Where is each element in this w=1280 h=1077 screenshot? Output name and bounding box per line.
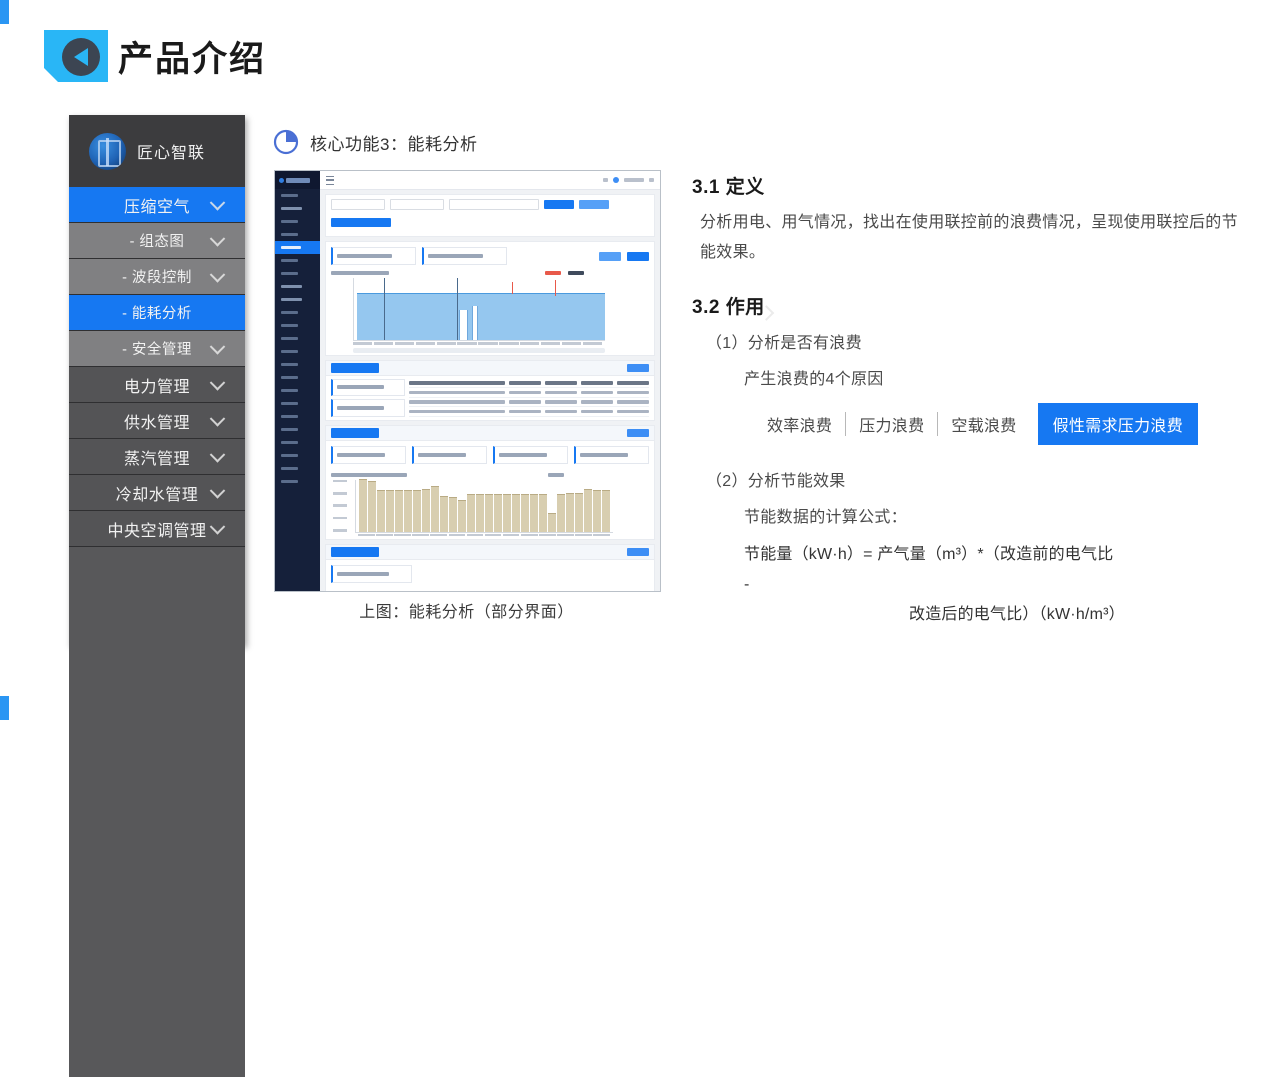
panel-header: [326, 361, 654, 376]
sidebar-item-label: 电力管理: [124, 373, 190, 397]
kpi-card: [422, 247, 507, 265]
chevron-down-icon[interactable]: [210, 447, 226, 463]
mock-nav-item[interactable]: [275, 332, 320, 345]
bar: [476, 494, 484, 531]
mock-nav-item[interactable]: [275, 462, 320, 475]
mock-nav-item[interactable]: [275, 436, 320, 449]
sidebar-menu: 压缩空气- 组态图- 波段控制- 能耗分析- 安全管理电力管理供水管理蒸汽管理冷…: [69, 187, 245, 547]
mock-app-nav: [275, 171, 320, 591]
tab-energy-analysis[interactable]: [331, 218, 391, 227]
chevron-down-icon[interactable]: [210, 375, 226, 391]
bar: [494, 494, 502, 531]
tab-bar: [326, 214, 654, 236]
bar: [413, 490, 421, 532]
sidebar-item-label: 供水管理: [124, 409, 190, 433]
bar: [458, 500, 466, 531]
mock-nav-item[interactable]: [275, 423, 320, 436]
item-1-sub: 产生浪费的4个原因: [744, 365, 1252, 389]
bar-series-beige: [355, 480, 613, 533]
kpi-row: [326, 441, 654, 469]
chevron-down-icon[interactable]: [210, 483, 226, 499]
section-3-2-title: 3.2 作用: [692, 292, 1252, 319]
chevron-down-icon[interactable]: [210, 231, 226, 247]
screenshot-caption: 上图：能耗分析（部分界面）: [274, 598, 659, 622]
summary-cards: [331, 379, 405, 417]
summary-card: [331, 399, 405, 417]
panel-content: [326, 376, 654, 420]
waste-detail-panel: [325, 360, 655, 421]
chevron-down-icon[interactable]: [210, 267, 226, 283]
spike-marker: [512, 282, 513, 294]
kpi-card: [574, 446, 649, 464]
menu-toggle-icon[interactable]: [326, 176, 334, 185]
filter-row: [326, 195, 654, 214]
bar: [422, 489, 430, 532]
formula-line-3: 改造后的电气比）（kW·h/m³）: [909, 600, 1252, 630]
panel-header: [326, 426, 654, 441]
area-plot: [353, 278, 605, 341]
kpi-row: [326, 560, 654, 588]
bar: [512, 494, 520, 531]
sidebar-item-label: 蒸汽管理: [124, 445, 190, 469]
gas-output-bar-chart: [326, 588, 654, 592]
slide-header: 产品介绍: [0, 0, 1280, 110]
sidebar-item-1[interactable]: - 组态图: [69, 223, 245, 259]
kpi-card: [331, 446, 406, 464]
mock-nav-brand: [275, 171, 320, 189]
chevron-down-icon[interactable]: [210, 195, 226, 211]
panel-header: [326, 545, 654, 560]
sidebar-item-label: - 组态图: [130, 230, 185, 251]
reset-button[interactable]: [579, 200, 609, 209]
mock-nav-item[interactable]: [275, 306, 320, 319]
avatar[interactable]: [613, 177, 619, 183]
gas-output-panel: [325, 544, 655, 592]
waste-chip-0[interactable]: 效率浪费: [754, 412, 846, 436]
query-button[interactable]: [544, 200, 574, 209]
mock-nav-item[interactable]: [275, 384, 320, 397]
bar: [557, 494, 565, 531]
table-header-row: [409, 379, 649, 389]
area-gap: [472, 306, 478, 340]
mock-nav-item[interactable]: [275, 228, 320, 241]
mock-nav-item[interactable]: [275, 280, 320, 293]
feature-heading-row: 核心功能3：能耗分析: [272, 120, 664, 164]
bar: [584, 489, 592, 532]
bar: [602, 490, 610, 532]
spike-marker: [555, 280, 556, 296]
kpi-card: [412, 446, 487, 464]
table-row[interactable]: [409, 388, 649, 398]
bar: [593, 490, 601, 532]
bar: [395, 490, 403, 532]
unit-energy-panel: [325, 425, 655, 541]
kpi-card: [331, 247, 416, 265]
bar: [566, 493, 574, 531]
logout-icon[interactable]: [649, 178, 654, 182]
mock-nav-item[interactable]: [275, 358, 320, 371]
panel-title-tag: [331, 363, 379, 373]
panel-title-tag: [331, 428, 379, 438]
mock-nav-item[interactable]: [275, 267, 320, 280]
mock-nav-item[interactable]: [275, 215, 320, 228]
waste-reason-chips: 效率浪费压力浪费空载浪费假性需求压力浪费: [754, 403, 1252, 445]
sidebar-item-0[interactable]: 压缩空气: [69, 187, 245, 223]
sidebar-item-4[interactable]: - 安全管理: [69, 331, 245, 367]
trend-panel: [325, 241, 655, 356]
chart-title: [331, 271, 389, 275]
mock-topbar-right: [603, 177, 654, 183]
right-content: 3.1 定义 分析用电、用气情况，找出在使用联控前的浪费情况，呈现使用联控后的节…: [692, 172, 1252, 630]
marker-line: [384, 278, 385, 340]
chart-scrollbar[interactable]: [353, 348, 605, 353]
legend-item[interactable]: [545, 271, 561, 275]
feature-heading-label: 核心功能3：能耗分析: [310, 130, 477, 155]
mock-nav-item[interactable]: [275, 371, 320, 384]
select-area[interactable]: [331, 199, 385, 210]
legend-item[interactable]: [568, 271, 584, 275]
section-3-1-body: 分析用电、用气情况，找出在使用联控前的浪费情况，呈现使用联控后的节能效果。: [700, 208, 1252, 268]
bar: [431, 486, 439, 532]
bar: [386, 490, 394, 532]
center-column: 核心功能3：能耗分析: [272, 120, 664, 164]
sidebar-item-5[interactable]: 电力管理: [69, 367, 245, 403]
mock-nav-item[interactable]: [275, 293, 320, 306]
chart-legend: [548, 473, 564, 477]
play-triangle-icon: [74, 48, 88, 66]
accent-bar-bottom-left: [0, 696, 9, 720]
sidebar-item-9[interactable]: 中央空调管理: [69, 511, 245, 547]
sidebar-filler: [69, 547, 245, 1077]
refresh-button[interactable]: [627, 252, 649, 261]
panel-action-button[interactable]: [627, 429, 649, 437]
mock-nav-item-active[interactable]: [275, 241, 320, 254]
panel-action-button[interactable]: [627, 364, 649, 372]
sidebar-brand-label: 匠心智联: [137, 139, 205, 163]
bar-plot-wrap: [331, 480, 649, 533]
sidebar-item-2[interactable]: - 波段控制: [69, 259, 245, 295]
page-title: 产品介绍: [118, 31, 266, 82]
item-1: （1）分析是否有浪费: [706, 329, 1252, 353]
mock-app: [275, 171, 660, 592]
summary-card: [331, 379, 405, 397]
chart-title: [331, 473, 407, 477]
sidebar-item-label: 压缩空气: [124, 193, 190, 217]
mock-nav-brand-label: [286, 178, 310, 183]
bar: [377, 490, 385, 532]
mock-nav-item[interactable]: [275, 319, 320, 332]
sidebar-item-6[interactable]: 供水管理: [69, 403, 245, 439]
bar: [449, 497, 457, 531]
sidebar-item-label: - 安全管理: [122, 338, 192, 359]
bar: [521, 494, 529, 531]
y-axis-labels: [333, 480, 347, 532]
section-3-1-title: 3.1 定义: [692, 172, 1252, 199]
formula-line-1: 节能量（kW·h）= 产气量（m³）*（改造前的电气比: [744, 546, 1113, 563]
sidebar-item-7[interactable]: 蒸汽管理: [69, 439, 245, 475]
pie-chart-icon: [272, 128, 300, 156]
area-series: [357, 293, 605, 340]
brand-emblem-icon: [89, 133, 126, 170]
mock-topbar: [320, 171, 660, 190]
export-button[interactable]: [599, 252, 621, 261]
waste-chip-1[interactable]: 压力浪费: [846, 412, 938, 436]
bar: [530, 494, 538, 531]
dashboard-screenshot: [274, 170, 661, 592]
mock-nav-item[interactable]: [275, 410, 320, 423]
sidebar-item-label: - 波段控制: [122, 266, 192, 287]
mock-nav-item[interactable]: [275, 254, 320, 267]
bar: [548, 513, 556, 532]
mock-nav-item[interactable]: [275, 345, 320, 358]
select-device[interactable]: [390, 199, 444, 210]
mock-nav-item[interactable]: [275, 202, 320, 215]
table-row[interactable]: [409, 407, 649, 417]
formula-line-2: -: [744, 570, 1252, 600]
bar: [404, 490, 412, 532]
bar: [467, 494, 475, 531]
product-sidebar: 匠心智联 压缩空气- 组态图- 波段控制- 能耗分析- 安全管理电力管理供水管理…: [69, 115, 245, 645]
item-2: （2）分析节能效果: [706, 467, 1252, 491]
user-name-label: [624, 178, 644, 182]
sidebar-brand: 匠心智联: [69, 115, 245, 187]
table-row[interactable]: [409, 398, 649, 408]
chevron-down-icon[interactable]: [210, 339, 226, 355]
waste-chip-2[interactable]: 空载浪费: [938, 412, 1029, 436]
unit-energy-bar-chart: [326, 469, 654, 540]
panel-title-tag: [331, 547, 379, 557]
x-axis-labels: [331, 341, 605, 346]
waste-table: [409, 379, 649, 417]
item-2-sub: 节能数据的计算公式：: [744, 503, 1252, 527]
bar: [485, 494, 493, 531]
mock-nav-item[interactable]: [275, 397, 320, 410]
mock-app-body: [320, 171, 660, 592]
pressure-area-chart: [326, 267, 654, 355]
bar: [368, 481, 376, 532]
chart-legend: [545, 271, 584, 275]
sidebar-item-3[interactable]: - 能耗分析: [69, 295, 245, 331]
mock-nav-item[interactable]: [275, 189, 320, 202]
bar: [575, 493, 583, 531]
bar: [359, 479, 367, 532]
bar: [503, 494, 511, 531]
chevron-down-icon[interactable]: [210, 411, 226, 427]
mock-nav-item[interactable]: [275, 449, 320, 462]
x-axis-labels: [355, 533, 613, 538]
area-gap: [459, 310, 468, 340]
date-range-input[interactable]: [449, 199, 539, 210]
chevron-down-icon[interactable]: [210, 519, 226, 535]
filter-panel: [325, 194, 655, 237]
panel-action-button[interactable]: [627, 548, 649, 556]
mock-nav-item[interactable]: [275, 475, 320, 488]
waste-chip-3[interactable]: 假性需求压力浪费: [1038, 403, 1198, 445]
sidebar-item-8[interactable]: 冷却水管理: [69, 475, 245, 511]
search-icon[interactable]: [603, 178, 608, 182]
sidebar-item-label: - 能耗分析: [122, 302, 192, 323]
bar: [539, 494, 547, 531]
mock-nav-logo-icon: [279, 178, 284, 183]
kpi-row: [326, 242, 654, 267]
sidebar-item-label: 冷却水管理: [116, 481, 199, 505]
bar: [440, 496, 448, 531]
saving-formula: 节能量（kW·h）= 产气量（m³）*（改造前的电气比 - 改造后的电气比）（k…: [744, 540, 1252, 630]
kpi-card: [493, 446, 568, 464]
kpi-card: [331, 565, 412, 583]
marker-line: [457, 278, 458, 340]
sidebar-item-label: 中央空调管理: [107, 517, 206, 541]
